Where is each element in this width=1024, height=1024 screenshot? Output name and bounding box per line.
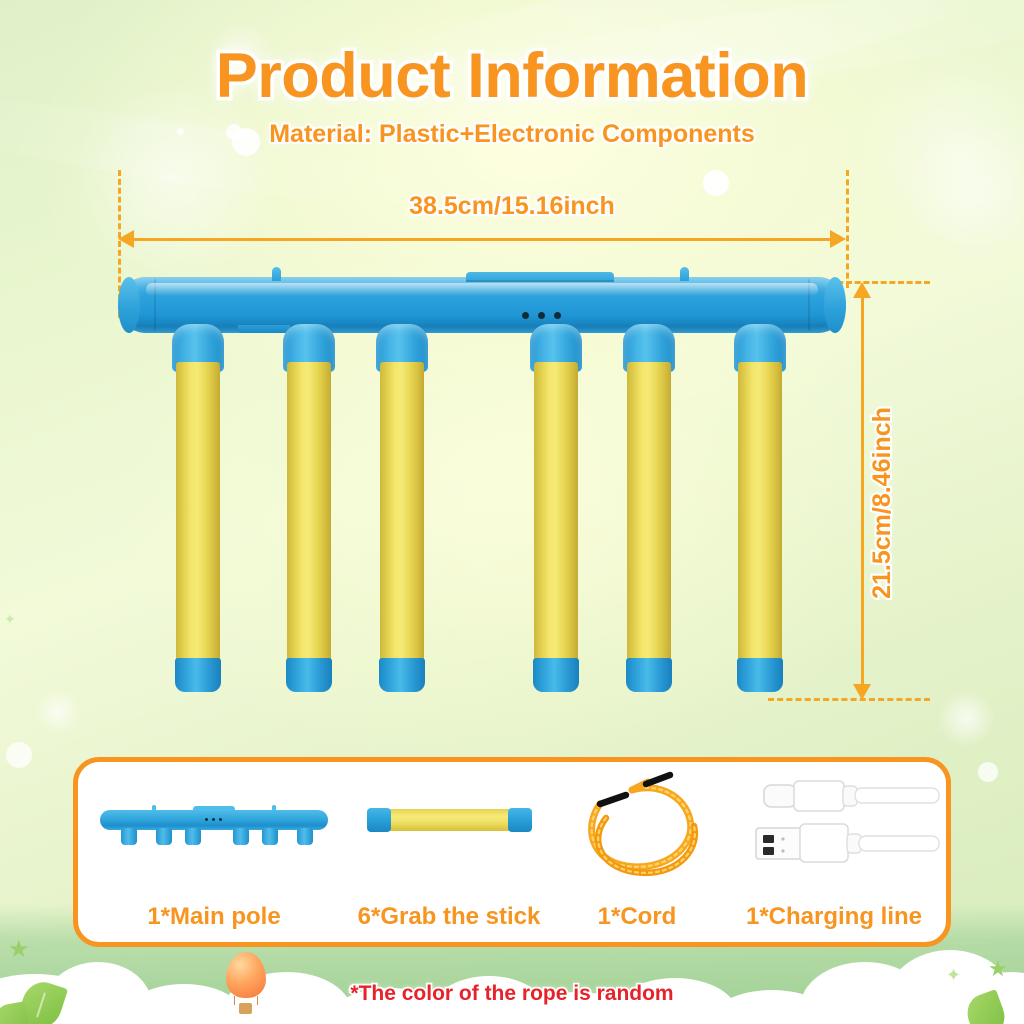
grab-stick-body [738, 362, 782, 662]
led-dot [522, 312, 529, 319]
star-icon: ★ [988, 958, 1008, 980]
bokeh-circle [938, 690, 994, 746]
bokeh-dot [978, 762, 998, 782]
stick-socket [734, 324, 786, 372]
rope-color-note: *The color of the rope is random [0, 982, 1024, 1006]
width-arrow-right [830, 230, 846, 248]
led-dot [538, 312, 545, 319]
height-arrow-up [853, 282, 871, 298]
usb-c-connector [764, 781, 939, 811]
stick-socket [623, 324, 675, 372]
pole-nub [272, 267, 281, 281]
cord-aglet [646, 775, 670, 784]
led-dot [554, 312, 561, 319]
grab-stick-body [176, 362, 220, 662]
stick-socket [172, 324, 224, 372]
height-arrow-down [853, 684, 871, 700]
main-pole [118, 277, 846, 333]
pole-nub [680, 267, 689, 281]
led-indicator-group [522, 312, 561, 319]
height-dimension-line [861, 296, 864, 688]
grab-stick-end-cap [286, 658, 332, 692]
page-title: Product Information [0, 40, 1024, 112]
width-arrow-left [118, 230, 134, 248]
grab-stick-end-cap [533, 658, 579, 692]
usb-a-connector [756, 824, 939, 862]
guide-line-right [846, 170, 849, 288]
height-dimension-label: 21.5cm/8.46inch [868, 378, 897, 628]
stick-socket [530, 324, 582, 372]
product-information-infographic: ★ ✦ ★ ✦ Product Information Material: Pl… [0, 0, 1024, 1024]
bokeh-dot [6, 742, 32, 768]
grab-stick-body [534, 362, 578, 662]
pole-end-cap-left [118, 277, 140, 333]
stick-socket [376, 324, 428, 372]
cord-aglet [600, 795, 626, 804]
grab-stick-body [627, 362, 671, 662]
stick-socket [283, 324, 335, 372]
grab-stick-body [287, 362, 331, 662]
grab-stick-end-cap [737, 658, 783, 692]
grab-stick-body [380, 362, 424, 662]
pole-seam [808, 279, 810, 331]
guide-line-top [820, 281, 930, 284]
part-label-charging-line: 1*Charging line [684, 903, 984, 931]
material-subtitle: Material: Plastic+Electronic Components [0, 120, 1024, 149]
cord-icon [578, 768, 704, 880]
pole-top-panel [466, 272, 614, 282]
star-icon: ✦ [4, 612, 16, 626]
grab-stick-end-cap [379, 658, 425, 692]
pole-seam [154, 279, 156, 331]
width-dimension-label: 38.5cm/15.16inch [0, 192, 1024, 221]
grab-stick-end-cap [626, 658, 672, 692]
pole-panel-seam [466, 280, 614, 282]
pole-end-cap-right [824, 277, 846, 333]
grab-stick-end-cap [175, 658, 221, 692]
bokeh-circle [36, 690, 80, 734]
pole-highlight [146, 283, 818, 296]
width-dimension-line [128, 238, 836, 241]
pole-bottom-tab [238, 325, 290, 333]
guide-line-bottom [768, 698, 930, 701]
charging-line-icon [750, 780, 940, 872]
star-icon: ★ [8, 938, 30, 962]
